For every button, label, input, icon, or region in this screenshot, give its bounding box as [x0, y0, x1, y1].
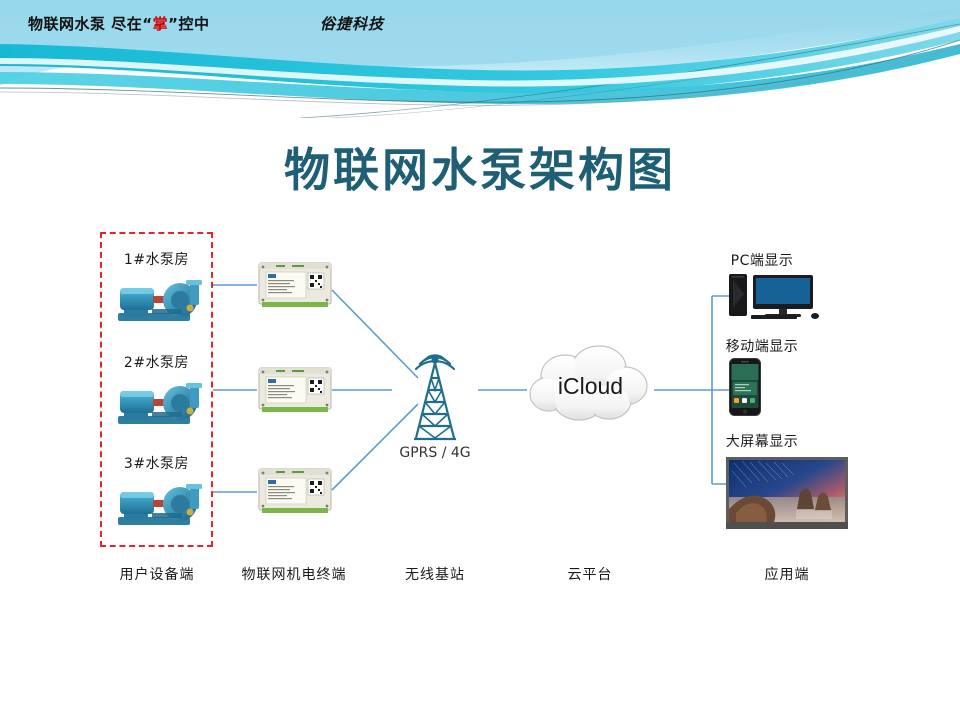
- pump-house-3-icon: [112, 479, 204, 531]
- pc-display-icon: [727, 272, 820, 320]
- large-screen-display-icon: [726, 457, 848, 529]
- architecture-diagram: 1#水泵房: [0, 0, 960, 720]
- column-label-wireless-base-station: 无线基站: [360, 564, 510, 584]
- slide-canvas: 物联网水泵 尽在“掌”控中 俗捷科技 物联网水泵架构图: [0, 0, 960, 720]
- large-screen-display-label: 大屏幕显示: [682, 431, 842, 451]
- column-label-iot-terminal: 物联网机电终端: [219, 564, 369, 584]
- header-slogan: 物联网水泵 尽在“掌”控中: [28, 13, 209, 34]
- column-label-cloud-platform: 云平台: [515, 564, 665, 584]
- pump-house-1-icon: [112, 275, 204, 327]
- column-label-application: 应用端: [712, 564, 862, 584]
- cell-tower-label: GPRS / 4G: [370, 445, 500, 461]
- pump-house-2-icon: [112, 378, 204, 430]
- pump-house-1-label: 1#水泵房: [100, 249, 213, 269]
- cell-tower-icon: [392, 338, 478, 442]
- pc-display-label: PC端显示: [682, 250, 842, 270]
- header-slogan-highlight: 掌: [153, 15, 169, 33]
- header-slogan-suffix: 控中: [178, 15, 209, 33]
- cloud-label: iCloud: [527, 373, 654, 400]
- header-brand: 俗捷科技: [320, 13, 384, 34]
- header-slogan-prefix: 物联网水泵 尽在: [28, 15, 142, 33]
- iot-terminal-1-icon: [258, 262, 332, 309]
- iot-terminal-2-icon: [258, 367, 332, 414]
- mobile-display-icon: [729, 358, 761, 416]
- column-label-user-equipment: 用户设备端: [82, 564, 232, 584]
- mobile-display-label: 移动端显示: [682, 336, 842, 356]
- pump-house-3-label: 3#水泵房: [100, 453, 213, 473]
- header-slogan-quote-open: “: [142, 15, 152, 33]
- pump-house-2-label: 2#水泵房: [100, 352, 213, 372]
- header-slogan-quote-close: ”: [168, 15, 178, 33]
- iot-terminal-3-icon: [258, 468, 332, 515]
